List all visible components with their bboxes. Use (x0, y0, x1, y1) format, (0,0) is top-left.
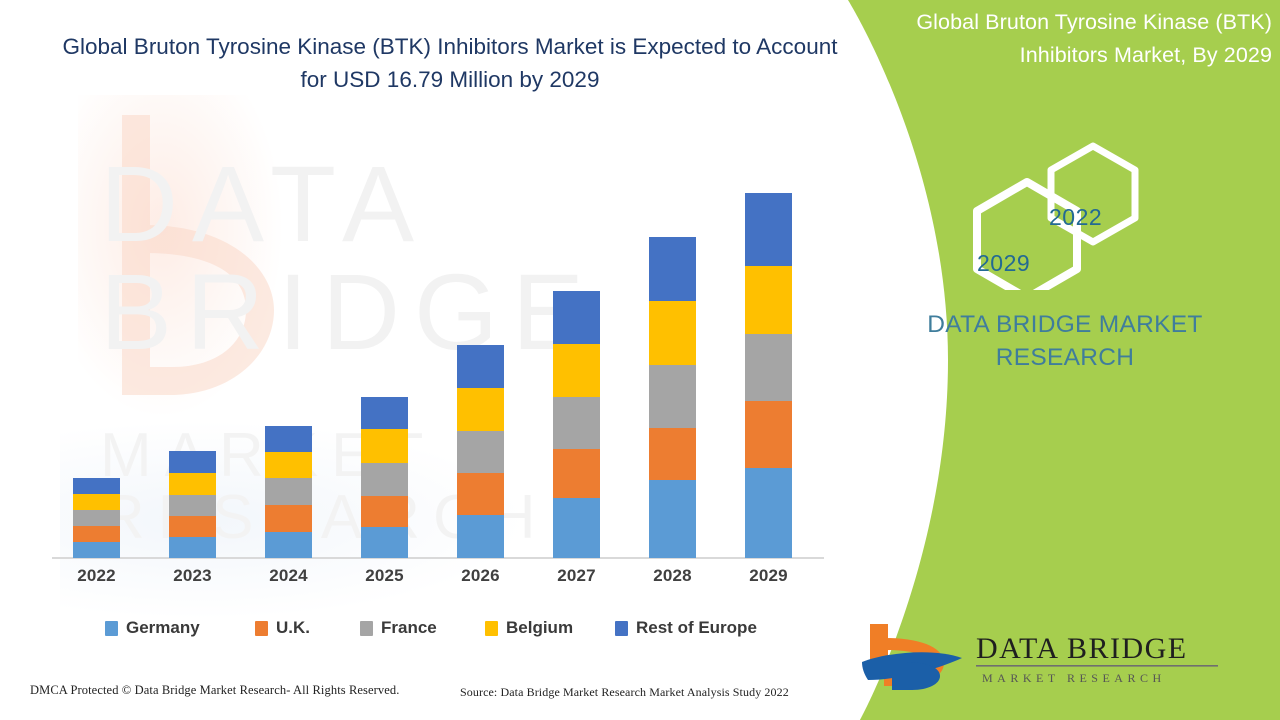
legend-label: France (381, 618, 437, 638)
infographic-page: DATA BRIDGE MARKET RESEARCH Global Bruto… (0, 0, 1280, 720)
bar-segment-france (361, 463, 408, 496)
x-axis-label-2022: 2022 (52, 566, 142, 586)
bar-segment-germany (745, 468, 792, 558)
bar-segment-u-k (745, 401, 792, 468)
svg-text:DATA BRIDGE: DATA BRIDGE (976, 632, 1188, 665)
bar-segment-france (73, 510, 120, 526)
panel-brand-name: DATA BRIDGE MARKET RESEARCH (870, 308, 1260, 374)
bar-segment-rest-of-europe (457, 345, 504, 388)
bar-segment-france (265, 478, 312, 505)
bar-2023 (169, 451, 216, 558)
bar-2027 (553, 291, 600, 558)
bar-segment-germany (361, 527, 408, 558)
x-axis-label-2028: 2028 (628, 566, 718, 586)
bar-segment-rest-of-europe (265, 426, 312, 452)
stacked-bar-chart (50, 120, 825, 558)
bar-segment-belgium (553, 344, 600, 397)
legend-swatch-icon (360, 621, 373, 636)
bar-2024 (265, 426, 312, 558)
svg-text:MARKET RESEARCH: MARKET RESEARCH (982, 671, 1166, 685)
legend-item-belgium[interactable]: Belgium (485, 615, 573, 641)
bar-segment-rest-of-europe (361, 397, 408, 429)
bar-2028 (649, 237, 696, 558)
legend-item-germany[interactable]: Germany (105, 615, 200, 641)
bar-segment-u-k (457, 473, 504, 515)
legend-swatch-icon (105, 621, 118, 636)
x-axis-label-2026: 2026 (436, 566, 526, 586)
bar-2026 (457, 345, 504, 558)
bar-segment-belgium (169, 473, 216, 495)
x-axis-label-2029: 2029 (724, 566, 814, 586)
dbmr-logo: DATA BRIDGE MARKET RESEARCH (858, 618, 1258, 694)
x-axis-labels: 20222023202420252026202720282029 (50, 566, 825, 596)
bar-segment-belgium (457, 388, 504, 431)
bar-segment-germany (553, 498, 600, 558)
bar-segment-u-k (649, 428, 696, 480)
bar-segment-rest-of-europe (553, 291, 600, 344)
hexagon-label-2029: 2029 (977, 250, 1030, 277)
legend-item-u-k[interactable]: U.K. (255, 615, 310, 641)
bar-2022 (73, 478, 120, 558)
footer-source: Source: Data Bridge Market Research Mark… (460, 685, 789, 700)
bar-segment-germany (457, 515, 504, 558)
hexagon-group: 2022 2029 (965, 140, 1170, 285)
bar-segment-u-k (553, 449, 600, 498)
bar-segment-france (169, 495, 216, 516)
hexagon-label-2022: 2022 (1049, 204, 1102, 231)
bar-segment-belgium (745, 266, 792, 334)
bar-segment-france (649, 365, 696, 428)
legend-item-rest-of-europe[interactable]: Rest of Europe (615, 615, 757, 641)
logo-mark-icon (862, 624, 962, 690)
page-title: Global Bruton Tyrosine Kinase (BTK) Inhi… (55, 30, 845, 96)
bar-segment-rest-of-europe (73, 478, 120, 494)
bar-segment-belgium (649, 301, 696, 365)
bar-2029 (745, 193, 792, 558)
x-axis-label-2025: 2025 (340, 566, 430, 586)
bar-segment-belgium (361, 429, 408, 463)
legend-label: U.K. (276, 618, 310, 638)
bar-segment-germany (265, 532, 312, 558)
legend-swatch-icon (255, 621, 268, 636)
bar-segment-belgium (73, 494, 120, 510)
green-panel-content: Global Bruton Tyrosine Kinase (BTK) Inhi… (840, 0, 1280, 720)
legend-label: Germany (126, 618, 200, 638)
legend-swatch-icon (615, 621, 628, 636)
bar-segment-germany (169, 537, 216, 558)
x-axis-label-2027: 2027 (532, 566, 622, 586)
bar-segment-france (745, 334, 792, 401)
bar-segment-u-k (73, 526, 120, 542)
legend-swatch-icon (485, 621, 498, 636)
chart-legend: GermanyU.K.FranceBelgiumRest of Europe (50, 615, 840, 643)
bar-segment-rest-of-europe (169, 451, 216, 473)
bar-2025 (361, 397, 408, 558)
bar-segment-france (553, 397, 600, 449)
legend-label: Rest of Europe (636, 618, 757, 638)
bar-segment-u-k (265, 505, 312, 532)
bar-segment-u-k (169, 516, 216, 537)
bar-segment-germany (73, 542, 120, 558)
legend-label: Belgium (506, 618, 573, 638)
bar-segment-france (457, 431, 504, 473)
bar-segment-u-k (361, 496, 408, 527)
x-axis-label-2024: 2024 (244, 566, 334, 586)
bar-segment-rest-of-europe (649, 237, 696, 301)
panel-title: Global Bruton Tyrosine Kinase (BTK) Inhi… (860, 6, 1272, 72)
footer-copyright: DMCA Protected © Data Bridge Market Rese… (30, 683, 400, 698)
legend-item-france[interactable]: France (360, 615, 437, 641)
x-axis-label-2023: 2023 (148, 566, 238, 586)
bar-segment-belgium (265, 452, 312, 478)
bar-segment-germany (649, 480, 696, 558)
bar-segment-rest-of-europe (745, 193, 792, 266)
